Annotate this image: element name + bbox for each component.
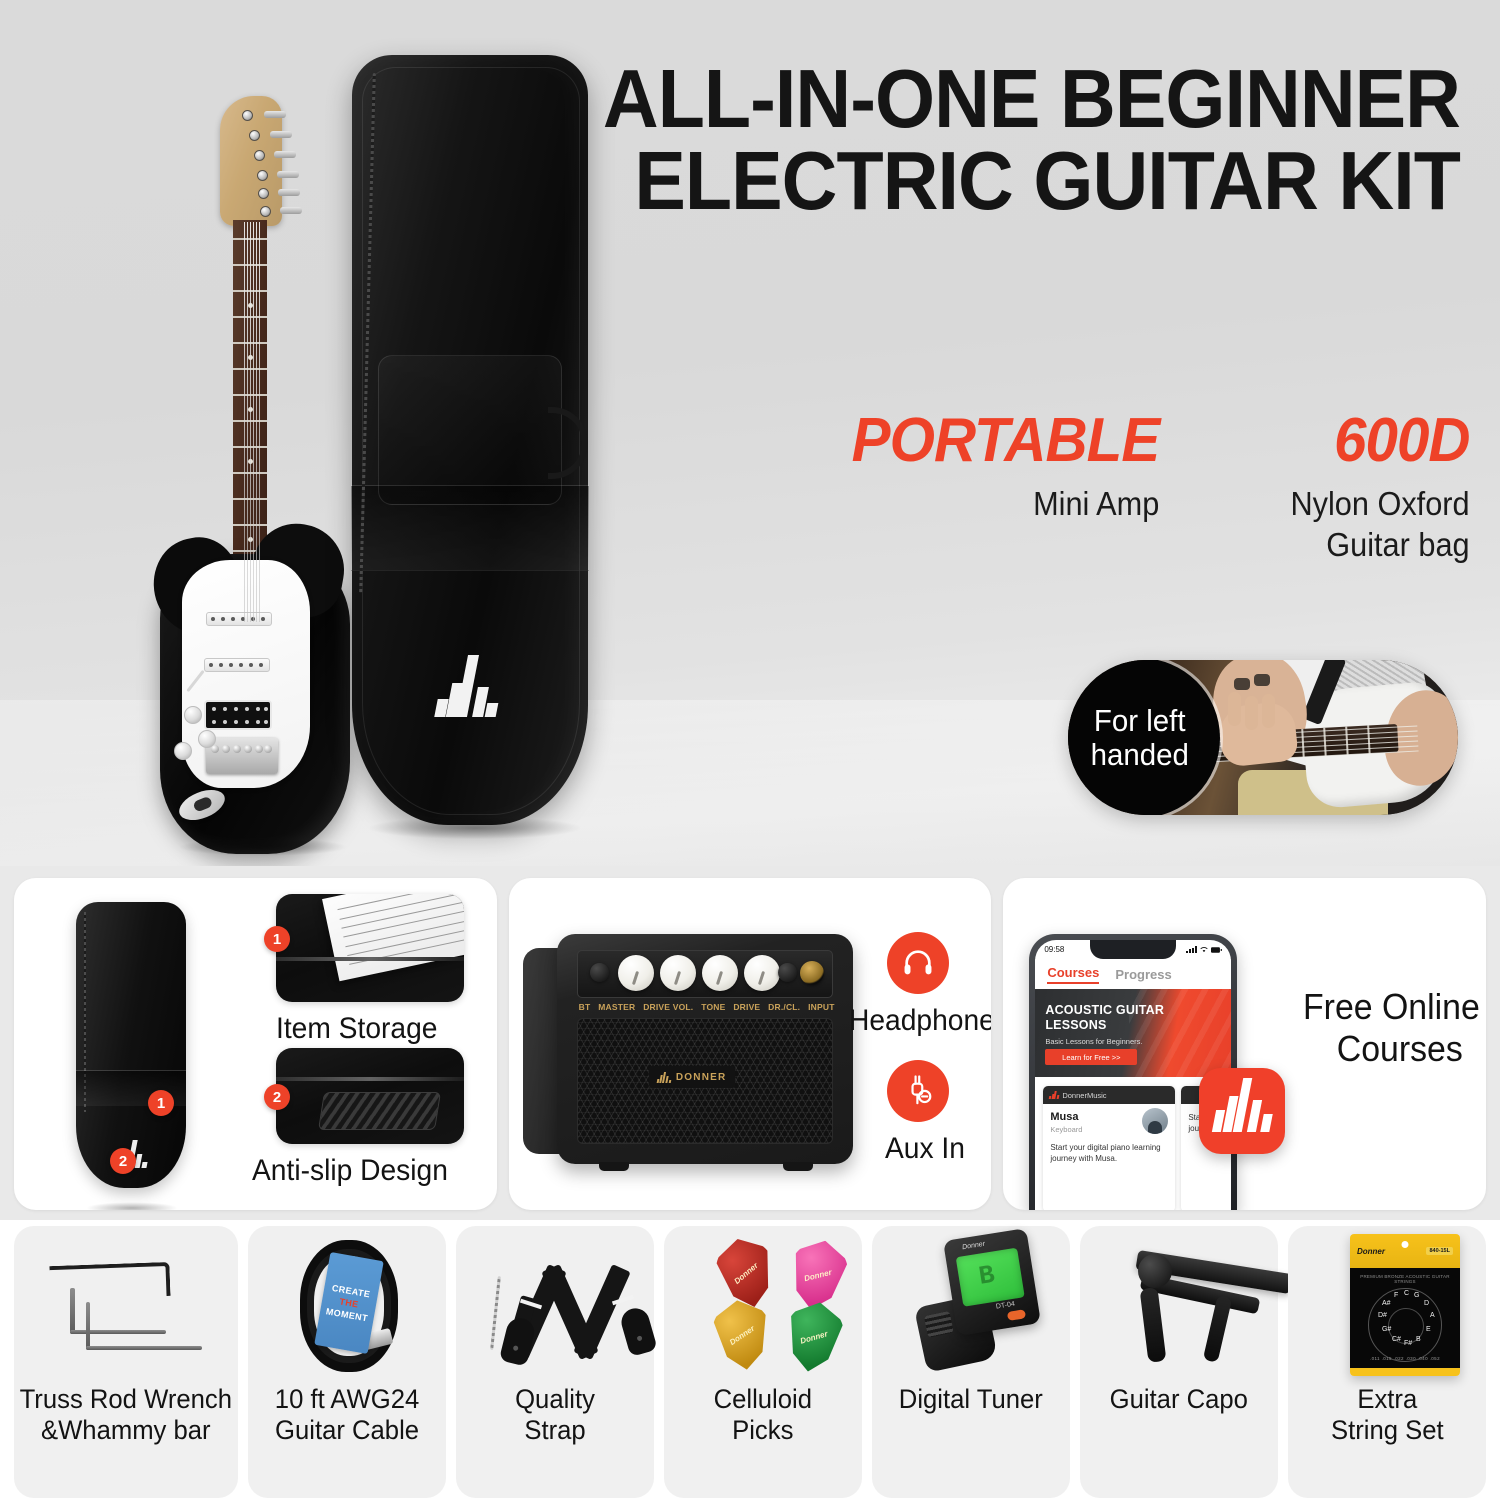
capo-label-line1: Guitar Capo [1110,1384,1248,1415]
amp-label-master: MASTER [598,1002,635,1012]
banner-title-line1: ACOUSTIC GUITAR [1045,1003,1164,1017]
callout-marker-2: 2 [110,1148,136,1174]
mini-amp-image: BT MASTER DRIVE VOL. TONE DRIVE DR./CL. … [523,934,853,1164]
cable-label-line1: 10 ft AWG24 [274,1384,418,1415]
pack-note-5: E [1426,1326,1431,1333]
label-guitar-capo: Guitar Capo [1110,1384,1248,1415]
cable-band-l3: MOMENT [325,1306,368,1323]
accessory-guitar-cable: CREATE THE MOMENT 10 ft AWG24 Guitar Cab… [248,1226,446,1498]
pack-note-10: D# [1378,1312,1387,1319]
gig-bag-image [352,55,592,845]
label-item-storage: Item Storage [276,1012,437,1047]
picks-label-line1: Celluloid [714,1384,812,1415]
truss-label-line2: &Whammy bar [20,1415,232,1446]
label-extra-string-set: Extra String Set [1331,1384,1444,1446]
accessory-digital-tuner: Donner DT-04 Digital Tuner [872,1226,1070,1498]
label-guitar-cable: 10 ft AWG24 Guitar Cable [274,1384,418,1446]
phone-hero-banner: ACOUSTIC GUITAR LESSONS Basic Lessons fo… [1035,989,1231,1077]
pack-note-1: C [1404,1290,1409,1297]
guitar-bridge [206,738,278,774]
donner-waveform-logo [1049,1091,1058,1099]
pick-brand-1: Donner [732,1261,759,1286]
courses-label-line2: Courses [1303,1028,1463,1070]
pack-brand: Donner [1357,1247,1385,1256]
pack-code: 840-15L [1426,1247,1453,1255]
lefty-line1: For left [1094,703,1186,738]
phone-tab-bar: Courses Progress [1035,959,1231,989]
strings-label-line2: String Set [1331,1415,1444,1446]
title-line-1: ALL-IN-ONE BEGINNER [603,52,1460,145]
amp-label-dr-cl: DR./CL. [768,1002,800,1012]
guitar-capo-icon [1080,1226,1278,1384]
pack-note-9: G# [1382,1326,1391,1333]
card-gig-bag-features: 1 2 1 Item Storage 2 Anti-slip Design [14,878,497,1210]
tuner-label-line1: Digital Tuner [899,1384,1043,1415]
left-handed-badge: For left handed [1068,660,1220,815]
drive-vol-knob[interactable] [660,955,696,991]
callout-marker-1: 1 [148,1090,174,1116]
pick-brand-3: Donner [728,1323,756,1346]
amp-brand-text: DONNER [676,1072,727,1083]
accessory-celluloid-picks: Donner Donner Donner Donner Celluloid Pi… [664,1226,862,1498]
label-aux-in: Aux In [885,1132,965,1167]
strap-label-line1: Quality [515,1384,595,1415]
donner-app-icon [1199,1068,1285,1154]
feature-portable-sub: Mini Amp [855,484,1159,525]
label-anti-slip: Anti-slip Design [252,1154,448,1189]
label-truss-rod-wrench: Truss Rod Wrench &Whammy bar [20,1384,232,1446]
callout-marker-2-detail: 2 [264,1084,290,1110]
label-celluloid-picks: Celluloid Picks [714,1384,812,1446]
input-jack [800,961,824,985]
callout-marker-1-detail: 1 [264,926,290,952]
detail-anti-slip [276,1048,464,1144]
pack-body: PREMIUM BRONZE ACOUSTIC GUITAR STRINGS F… [1350,1268,1460,1368]
page-title: ALL-IN-ONE BEGINNER ELECTRIC GUITAR KIT [567,58,1460,222]
feature-600d-sub-line1: Nylon Oxford [1291,484,1470,525]
strap-label-line2: Strap [515,1415,595,1446]
banner-subtitle: Basic Lessons for Beginners. [1045,1037,1142,1046]
tone-knob[interactable] [702,955,738,991]
truss-label-line1: Truss Rod Wrench [20,1384,232,1415]
label-digital-tuner: Digital Tuner [899,1384,1043,1415]
tab-progress[interactable]: Progress [1115,967,1171,982]
phone-screen: 09:58 Courses Progress ACOUSTIC [1035,940,1231,1210]
donner-waveform-logo [657,1072,671,1083]
tuner-power-button[interactable] [1007,1309,1026,1321]
label-free-online-courses: Free Online Courses [1303,986,1463,1070]
cable-band-l2: THE [338,1296,359,1309]
donner-waveform-logo [436,655,496,717]
feature-600d-sub: Nylon Oxford Guitar bag [1291,484,1470,566]
accessory-guitar-strap: Quality Strap [456,1226,654,1498]
hero-section: ALL-IN-ONE BEGINNER ELECTRIC GUITAR KIT … [0,0,1500,866]
mid-card-row: 1 2 1 Item Storage 2 Anti-slip Design [0,878,1500,1210]
battery-icon [1211,947,1222,953]
status-time: 09:58 [1044,945,1064,954]
pack-note-7: F# [1404,1340,1412,1347]
wifi-icon [1200,946,1208,953]
pack-header: Donner 840-15L [1350,1234,1460,1268]
cable-band-l1: CREATE [331,1283,371,1300]
feature-600d-sub-line2: Guitar bag [1291,525,1470,566]
pack-note-11: A# [1382,1300,1391,1307]
amp-brand-badge: DONNER [649,1066,735,1088]
extra-string-set-icon: Donner 840-15L PREMIUM BRONZE ACOUSTIC G… [1288,1226,1486,1384]
courses-label-line1: Free Online [1303,986,1463,1028]
master-knob[interactable] [618,955,654,991]
lefty-line2: handed [1091,737,1189,772]
circle-of-fifths-icon [1368,1288,1442,1362]
dr-cl-switch[interactable] [778,963,797,982]
bt-button-icon [590,963,609,982]
amp-label-bt: BT [579,1002,591,1012]
card-mini-amp: BT MASTER DRIVE VOL. TONE DRIVE DR./CL. … [509,878,992,1210]
amp-label-tone: TONE [701,1002,725,1012]
feature-600d-headline: 600D [1289,410,1470,472]
picks-label-line2: Picks [714,1415,812,1446]
accessory-extra-string-set: Donner 840-15L PREMIUM BRONZE ACOUSTIC G… [1288,1226,1486,1498]
learn-for-free-button[interactable]: Learn for Free >> [1045,1049,1137,1065]
pack-note-3: D [1424,1300,1429,1307]
amp-control-panel [577,950,833,998]
amp-label-input: INPUT [808,1002,835,1012]
pack-note-2: G [1414,1292,1419,1299]
title-line-2: ELECTRIC GUITAR KIT [567,140,1460,222]
accessory-truss-rod-wrench: Truss Rod Wrench &Whammy bar [14,1226,238,1498]
label-headphone: Headphone [849,1004,992,1039]
cable-label-line2: Guitar Cable [274,1415,418,1446]
card-description: Start your digital piano learning journe… [1050,1142,1168,1164]
digital-tuner-icon: Donner DT-04 [872,1226,1070,1384]
truss-rod-wrench-icon [14,1226,238,1384]
banner-title: ACOUSTIC GUITAR LESSONS [1045,1003,1164,1032]
left-handed-photo-pill: For left handed [1068,660,1458,815]
guitar-headstock [220,96,282,226]
strings-label-line1: Extra [1331,1384,1444,1415]
accessories-row: Truss Rod Wrench &Whammy bar CREATE THE … [0,1226,1500,1498]
banner-title-line2: LESSONS [1045,1018,1106,1032]
pack-gauges: .011 .015 .022 .030 .040 .052 [1350,1356,1460,1361]
pick-brand-4: Donner [799,1329,828,1345]
course-card[interactable]: DonnerMusic Musa Keyboard Start your dig… [1043,1086,1175,1210]
pack-note-8: C# [1392,1336,1401,1343]
feature-600d: 600D Nylon Oxford Guitar bag [1277,410,1470,566]
pack-note-0: F [1394,1292,1398,1299]
feature-portable: PORTABLE Mini Amp [832,410,1159,566]
pick-brand-2: Donner [803,1267,832,1283]
tuner-display [956,1248,1025,1307]
card-channel: DonnerMusic [1062,1091,1106,1100]
feature-portable-headline: PORTABLE [852,410,1160,472]
hero-feature-row: PORTABLE Mini Amp 600D Nylon Oxford Guit… [740,410,1470,566]
detail-item-storage [276,894,464,1002]
pack-note-6: B [1416,1336,1421,1343]
label-guitar-strap: Quality Strap [515,1384,595,1446]
headphone-icon [887,932,949,994]
pack-note-4: A [1430,1312,1435,1319]
tab-courses[interactable]: Courses [1047,965,1099,984]
tuner-model: DT-04 [995,1301,1015,1311]
amp-panel-labels: BT MASTER DRIVE VOL. TONE DRIVE DR./CL. … [579,1002,835,1012]
humbucker-pickup [204,700,272,730]
output-jack [175,784,229,826]
left-handed-badge-text: For left handed [1091,704,1189,772]
accessory-guitar-capo: Guitar Capo [1080,1226,1278,1498]
amp-label-drive: DRIVE [733,1002,760,1012]
guitar-cable-icon: CREATE THE MOMENT [248,1226,446,1384]
celluloid-picks-icon: Donner Donner Donner Donner [664,1226,862,1384]
gig-bag-thumbnail [76,902,186,1188]
pack-subtitle: PREMIUM BRONZE ACOUSTIC GUITAR STRINGS [1350,1274,1460,1284]
tuner-brand: Donner [962,1241,986,1252]
guitar-strap-icon [456,1226,654,1384]
drive-knob[interactable] [744,955,780,991]
amp-label-drive-vol: DRIVE VOL. [643,1002,693,1012]
card-free-online-courses: 09:58 Courses Progress ACOUSTIC [1003,878,1486,1210]
signal-icon [1186,946,1197,953]
aux-in-icon [887,1060,949,1122]
